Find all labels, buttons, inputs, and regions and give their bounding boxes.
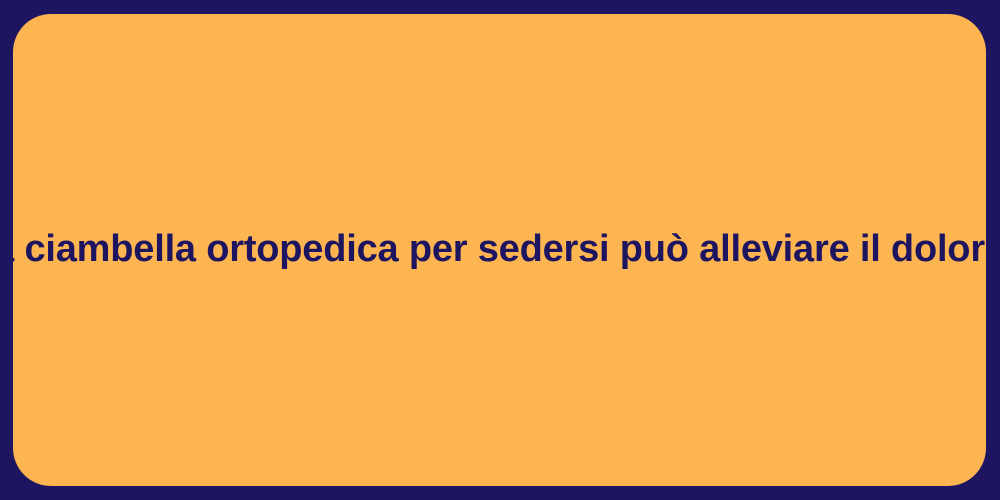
banner-card: La ciambella ortopedica per sedersi può … xyxy=(13,14,986,486)
banner-canvas: La ciambella ortopedica per sedersi può … xyxy=(0,0,1000,500)
page-title: La ciambella ortopedica per sedersi può … xyxy=(0,226,1000,274)
